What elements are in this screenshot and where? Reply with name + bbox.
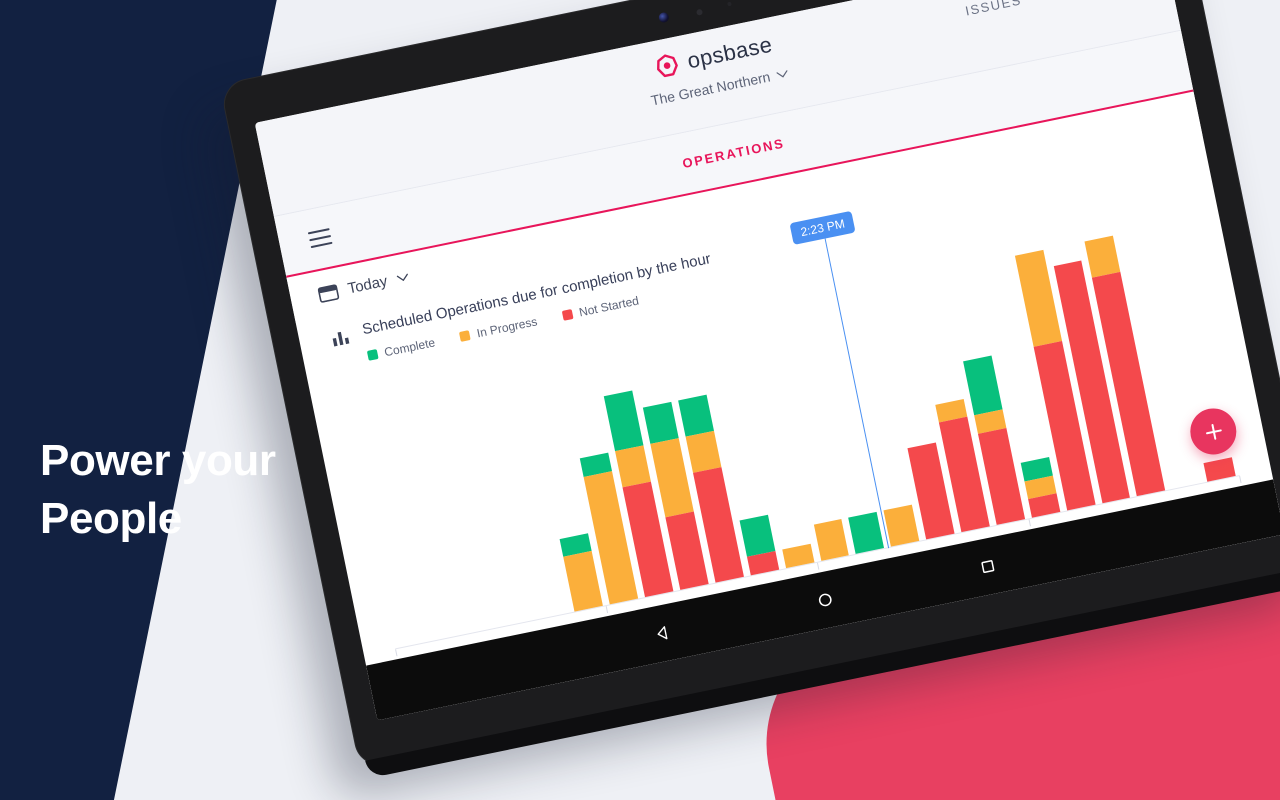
recents-icon[interactable] — [978, 557, 997, 576]
summary-card-title: Scheduled operations — [944, 595, 1083, 655]
chart-bar-segment — [564, 551, 604, 611]
headline-line-2: People — [40, 490, 340, 548]
summary-card-chips: 4 — [1248, 625, 1271, 646]
brand-name: opsbase — [685, 32, 774, 75]
legend-swatch-not-started — [562, 309, 574, 321]
tablet-device: opsbase The Great Northern ISSUES — [186, 0, 1280, 800]
legend-swatch-complete — [367, 349, 379, 361]
chevron-down-icon — [776, 69, 789, 78]
summary-card-value: 10 — [602, 711, 741, 721]
chart-bar-segment — [739, 515, 775, 557]
promo-headline: Power your People — [40, 432, 340, 548]
opsbase-logo-icon — [653, 52, 681, 80]
chart-bar-segment — [849, 512, 885, 554]
chart-bar-segment — [643, 402, 679, 444]
date-range-chevron-icon[interactable] — [396, 273, 409, 282]
summary-card-chips: 21 — [897, 697, 920, 718]
summary-card-value: 21 — [777, 675, 916, 721]
summary-card-title: Within time-frame — [593, 667, 732, 720]
sensor-icon-2 — [727, 2, 732, 7]
status-badge: 9 — [1023, 671, 1046, 692]
summary-card-value: 4 — [1128, 602, 1267, 662]
chart-bar-segment — [604, 391, 644, 451]
chart-bar-segment — [650, 438, 693, 517]
summary-card-value: 27 — [953, 638, 1092, 698]
bar-chart-icon — [329, 324, 353, 348]
chart-bar-segment — [963, 355, 1003, 415]
tab-operations[interactable]: OPERATIONS — [681, 135, 786, 171]
nav-item-issues[interactable]: ISSUES — [964, 0, 1023, 19]
date-range-label[interactable]: Today — [346, 272, 389, 297]
back-icon[interactable] — [653, 624, 672, 643]
headline-line-1: Power your — [40, 432, 340, 490]
status-badge: 4 — [1248, 625, 1271, 646]
summary-card-title: Cannot start — [768, 631, 907, 691]
promo-stage: Power your People opsba — [0, 0, 1280, 800]
chart-bar-segment — [615, 446, 651, 488]
chart-bar-segment — [1085, 235, 1121, 277]
chart-bar-segment — [813, 519, 849, 561]
summary-card-chips: 999 — [1023, 661, 1095, 692]
sensor-icon — [696, 9, 703, 16]
plus-icon — [1203, 421, 1223, 441]
calendar-icon — [317, 282, 340, 304]
summary-card-title: Ad-Hoc operations triggered — [1119, 559, 1258, 619]
tablet-screen: opsbase The Great Northern ISSUES — [255, 0, 1280, 720]
legend-swatch-in-progress — [459, 330, 471, 342]
status-badge: 21 — [897, 697, 920, 718]
front-camera-icon — [658, 12, 670, 24]
chart-bar-segment — [678, 395, 714, 437]
hamburger-menu-icon[interactable] — [308, 228, 333, 248]
chart-bar-segment — [665, 511, 708, 590]
home-icon[interactable] — [816, 590, 835, 609]
chart-bar-segment — [884, 504, 920, 546]
tablet-body: opsbase The Great Northern ISSUES — [219, 0, 1280, 770]
chart-bar-segment — [686, 431, 722, 473]
status-badge: 9 — [1048, 666, 1071, 687]
status-badge: 9 — [1072, 661, 1095, 682]
